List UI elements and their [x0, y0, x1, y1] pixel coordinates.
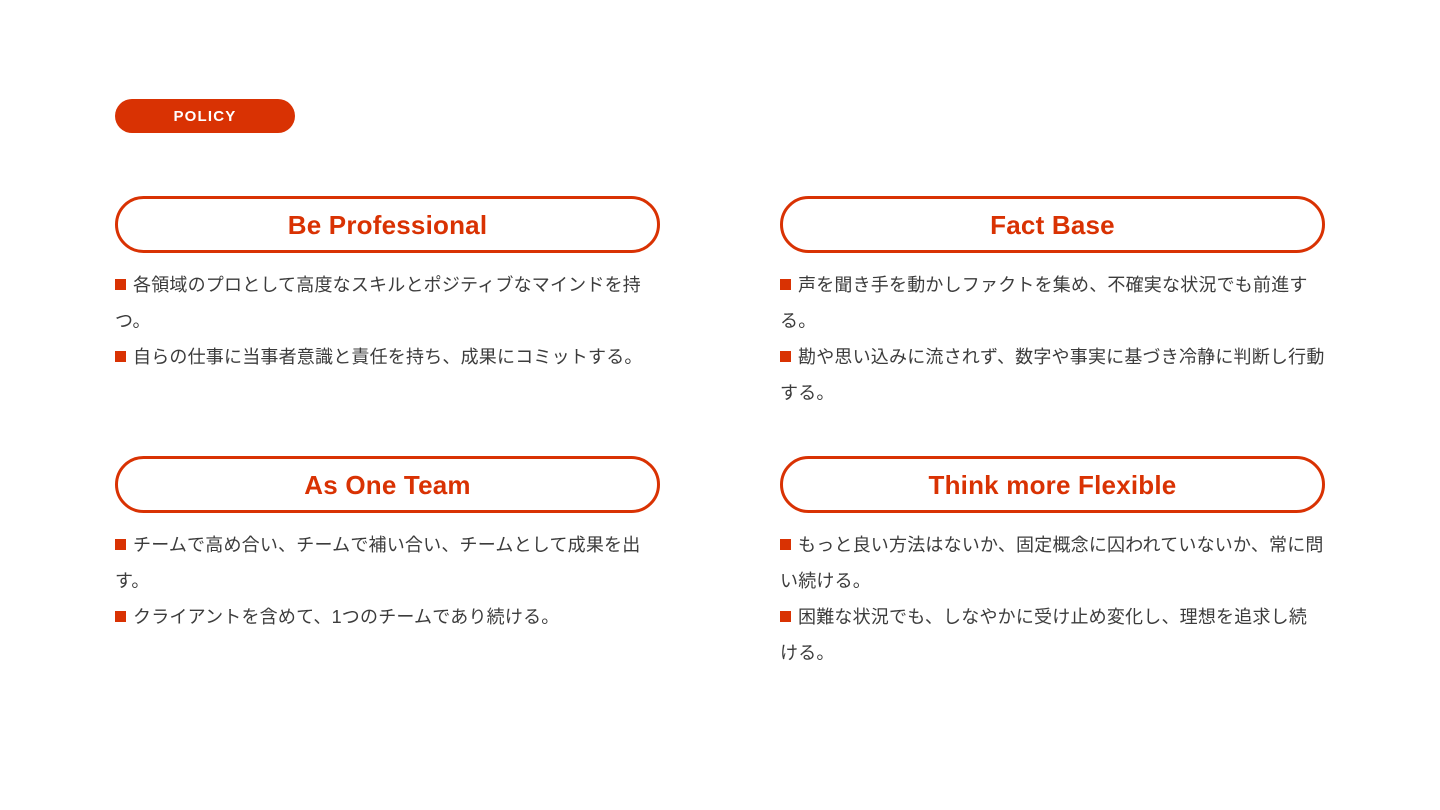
square-bullet-icon: [115, 351, 126, 362]
policy-item: チームで高め合い、チームで補い合い、チームとして成果を出す。: [115, 527, 660, 599]
square-bullet-icon: [780, 351, 791, 362]
policy-item: 困難な状況でも、しなやかに受け止め変化し、理想を追求し続ける。: [780, 599, 1325, 671]
square-bullet-icon: [115, 611, 126, 622]
policy-item-text: 勘や思い込みに流されず、数字や事実に基づき冷静に判断し行動する。: [780, 347, 1325, 403]
policy-card: Think more Flexible もっと良い方法はないか、固定概念に囚われ…: [780, 456, 1325, 687]
policy-page: POLICY Be Professional 各領域のプロとして高度なスキルとポ…: [0, 0, 1440, 810]
policy-item-text: 声を聞き手を動かしファクトを集め、不確実な状況でも前進する。: [780, 275, 1308, 331]
policy-item: 各領域のプロとして高度なスキルとポジティブなマインドを持つ。: [115, 267, 660, 339]
policy-card-title: Be Professional: [115, 196, 660, 253]
square-bullet-icon: [115, 279, 126, 290]
square-bullet-icon: [780, 279, 791, 290]
policy-item-text: 困難な状況でも、しなやかに受け止め変化し、理想を追求し続ける。: [780, 607, 1307, 663]
policy-item-text: クライアントを含めて、1つのチームであり続ける。: [133, 607, 559, 627]
policy-item: もっと良い方法はないか、固定概念に囚われていないか、常に問い続ける。: [780, 527, 1325, 599]
policy-badge: POLICY: [115, 99, 295, 133]
policy-item-text: もっと良い方法はないか、固定概念に囚われていないか、常に問い続ける。: [780, 535, 1324, 591]
policy-item: 声を聞き手を動かしファクトを集め、不確実な状況でも前進する。: [780, 267, 1325, 339]
square-bullet-icon: [115, 539, 126, 550]
policy-item-text: 各領域のプロとして高度なスキルとポジティブなマインドを持つ。: [115, 275, 641, 331]
policy-item-text: チームで高め合い、チームで補い合い、チームとして成果を出す。: [115, 535, 640, 591]
policy-card: Fact Base 声を聞き手を動かしファクトを集め、不確実な状況でも前進する。…: [780, 196, 1325, 427]
policy-card-title: As One Team: [115, 456, 660, 513]
policy-card: As One Team チームで高め合い、チームで補い合い、チームとして成果を出…: [115, 456, 660, 687]
policy-item-text: 自らの仕事に当事者意識と責任を持ち、成果にコミットする。: [133, 347, 643, 367]
square-bullet-icon: [780, 539, 791, 550]
policy-card-title: Fact Base: [780, 196, 1325, 253]
policy-card-body: もっと良い方法はないか、固定概念に囚われていないか、常に問い続ける。 困難な状況…: [780, 527, 1325, 671]
policy-card-grid: Be Professional 各領域のプロとして高度なスキルとポジティブなマイ…: [115, 196, 1325, 687]
policy-card-body: 声を聞き手を動かしファクトを集め、不確実な状況でも前進する。 勘や思い込みに流さ…: [780, 267, 1325, 411]
policy-card: Be Professional 各領域のプロとして高度なスキルとポジティブなマイ…: [115, 196, 660, 427]
policy-item: 自らの仕事に当事者意識と責任を持ち、成果にコミットする。: [115, 339, 660, 375]
policy-card-body: 各領域のプロとして高度なスキルとポジティブなマインドを持つ。 自らの仕事に当事者…: [115, 267, 660, 375]
square-bullet-icon: [780, 611, 791, 622]
policy-card-body: チームで高め合い、チームで補い合い、チームとして成果を出す。 クライアントを含め…: [115, 527, 660, 635]
policy-item: クライアントを含めて、1つのチームであり続ける。: [115, 599, 660, 635]
badge-row: POLICY: [115, 99, 295, 133]
policy-item: 勘や思い込みに流されず、数字や事実に基づき冷静に判断し行動する。: [780, 339, 1325, 411]
policy-card-title: Think more Flexible: [780, 456, 1325, 513]
